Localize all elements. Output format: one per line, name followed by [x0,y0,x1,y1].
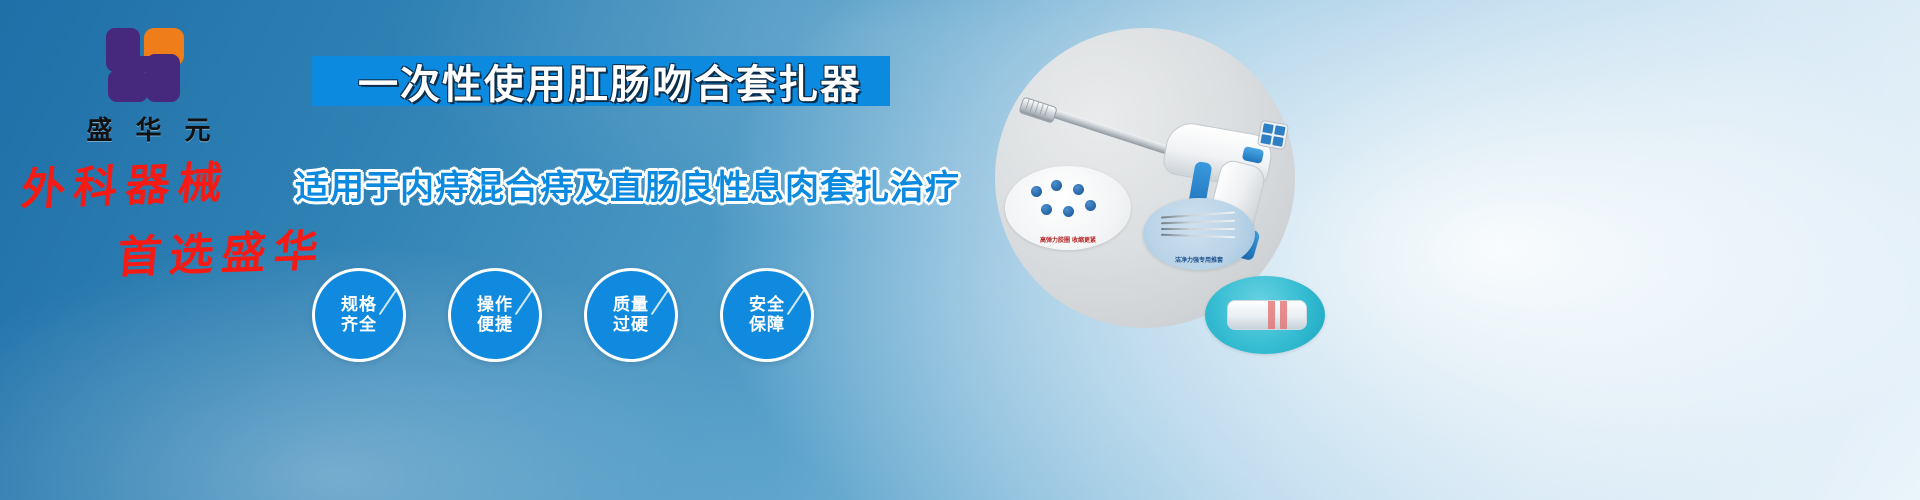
calligraphy-slogan: 外科器械 首选盛华 [22,150,326,282]
feature-badge-4[interactable]: 安全 保障 [720,268,814,362]
feature-badge-3-line-1: 质量 [613,295,649,315]
feature-badge-1-line-1: 规格 [341,295,377,315]
rubber-rings-icon [1031,180,1105,220]
calligraphy-line-1: 外科器械 [19,146,233,217]
slash-decor-icon [651,289,669,315]
cartridge-icon [1227,300,1307,330]
product-photo: 高弹力胶圈 收缩更紧 洁净力强专用推套 [995,28,1295,328]
feature-badge-2[interactable]: 操作 便捷 [448,268,542,362]
feature-badge-4-line-2: 保障 [749,315,785,335]
feature-badge-2-line-1: 操作 [477,295,513,315]
brand-logo[interactable]: 盛 华 元 [62,26,242,147]
page-subtitle: 适用于内痔混合痔及直肠良性息肉套扎治疗 [295,160,915,209]
calligraphy-line-2: 首选盛华 [115,214,329,285]
needles-icon [1161,212,1239,242]
inset-rings-caption: 高弹力胶圈 收缩更紧 [1005,235,1131,244]
promo-banner: 盛 华 元 外科器械 首选盛华 一次性使用肛肠吻合套扎器 适用于内痔混合痔及直肠… [0,0,1920,500]
inset-needles-caption: 洁净力强专用推套 [1143,255,1255,264]
feature-badge-3[interactable]: 质量 过硬 [584,268,678,362]
brand-name: 盛 华 元 [62,110,242,147]
feature-badge-2-line-2: 便捷 [477,315,513,335]
feature-badge-4-line-1: 安全 [749,295,785,315]
inset-photo-needles: 洁净力强专用推套 [1143,198,1255,270]
page-title: 一次性使用肛肠吻合套扎器 [330,55,890,107]
feature-badge-3-line-2: 过硬 [613,315,649,335]
inset-photo-rings: 高弹力胶圈 收缩更紧 [1005,166,1131,250]
slash-decor-icon [787,289,805,315]
slash-decor-icon [515,289,533,315]
logo-mark-icon [106,26,198,104]
feature-badge-1[interactable]: 规格 齐全 [312,268,406,362]
feature-badge-list: 规格 齐全 操作 便捷 质量 过硬 安全 保障 [312,268,814,362]
slash-decor-icon [379,289,397,315]
inset-photo-tube [1205,276,1325,354]
feature-badge-1-line-2: 齐全 [341,315,377,335]
